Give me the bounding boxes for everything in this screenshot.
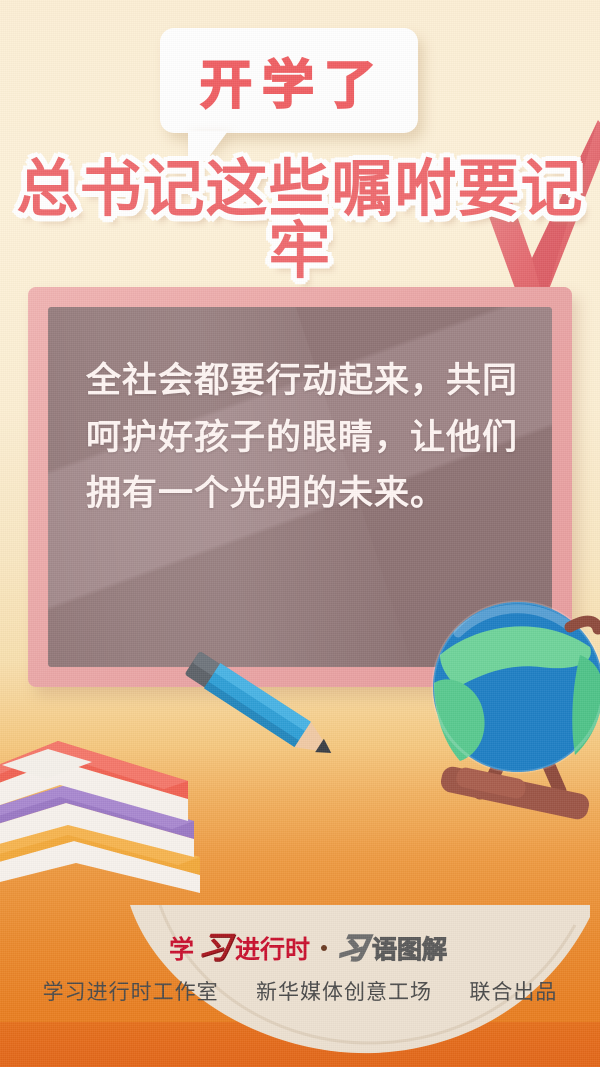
logo-text-xi-outline: 习 <box>335 925 371 967</box>
footer-credits: 学习进行时工作室 新华媒体创意工场 联合出品 <box>0 976 600 1006</box>
blackboard-quote-line-1: 全社会都要行动起来，共同 <box>86 353 522 410</box>
page-title: 总书记这些嘱咐要记牢 <box>0 158 600 282</box>
credit-partner: 新华媒体创意工场 <box>256 980 432 1004</box>
logo-text-xue: 学 <box>169 930 194 966</box>
credit-studio: 学习进行时工作室 <box>43 980 219 1004</box>
credit-joint: 联合出品 <box>469 980 557 1004</box>
book-stack-icon <box>0 735 218 910</box>
blackboard-quote: 全社会都要行动起来，共同 呵护好孩子的眼睛，让他们 拥有一个光明的未来。 <box>86 353 522 523</box>
page-title-text: 总书记这些嘱咐要记牢 <box>0 158 600 282</box>
logo-text-xi-brush: 习 <box>196 922 235 967</box>
logo-text-yutujie: 语图解 <box>372 930 447 966</box>
globe-icon <box>420 595 600 845</box>
speech-bubble-label: 开学了 <box>200 43 386 118</box>
blackboard-quote-line-2: 呵护好孩子的眼睛，让他们 <box>86 410 522 467</box>
logo-text-jinxingshi: 进行时 <box>235 930 310 966</box>
poster-root: 开学了 总书记这些嘱咐要记牢 全社会都要行动起来，共同 呵护好孩子的眼睛，让他们… <box>0 0 600 1067</box>
footer-logo: 学 习 进行时 习 语图解 <box>0 925 600 969</box>
blackboard-quote-line-3: 拥有一个光明的未来。 <box>86 466 522 523</box>
logo-separator-dot <box>321 945 327 951</box>
speech-bubble: 开学了 <box>160 28 418 133</box>
